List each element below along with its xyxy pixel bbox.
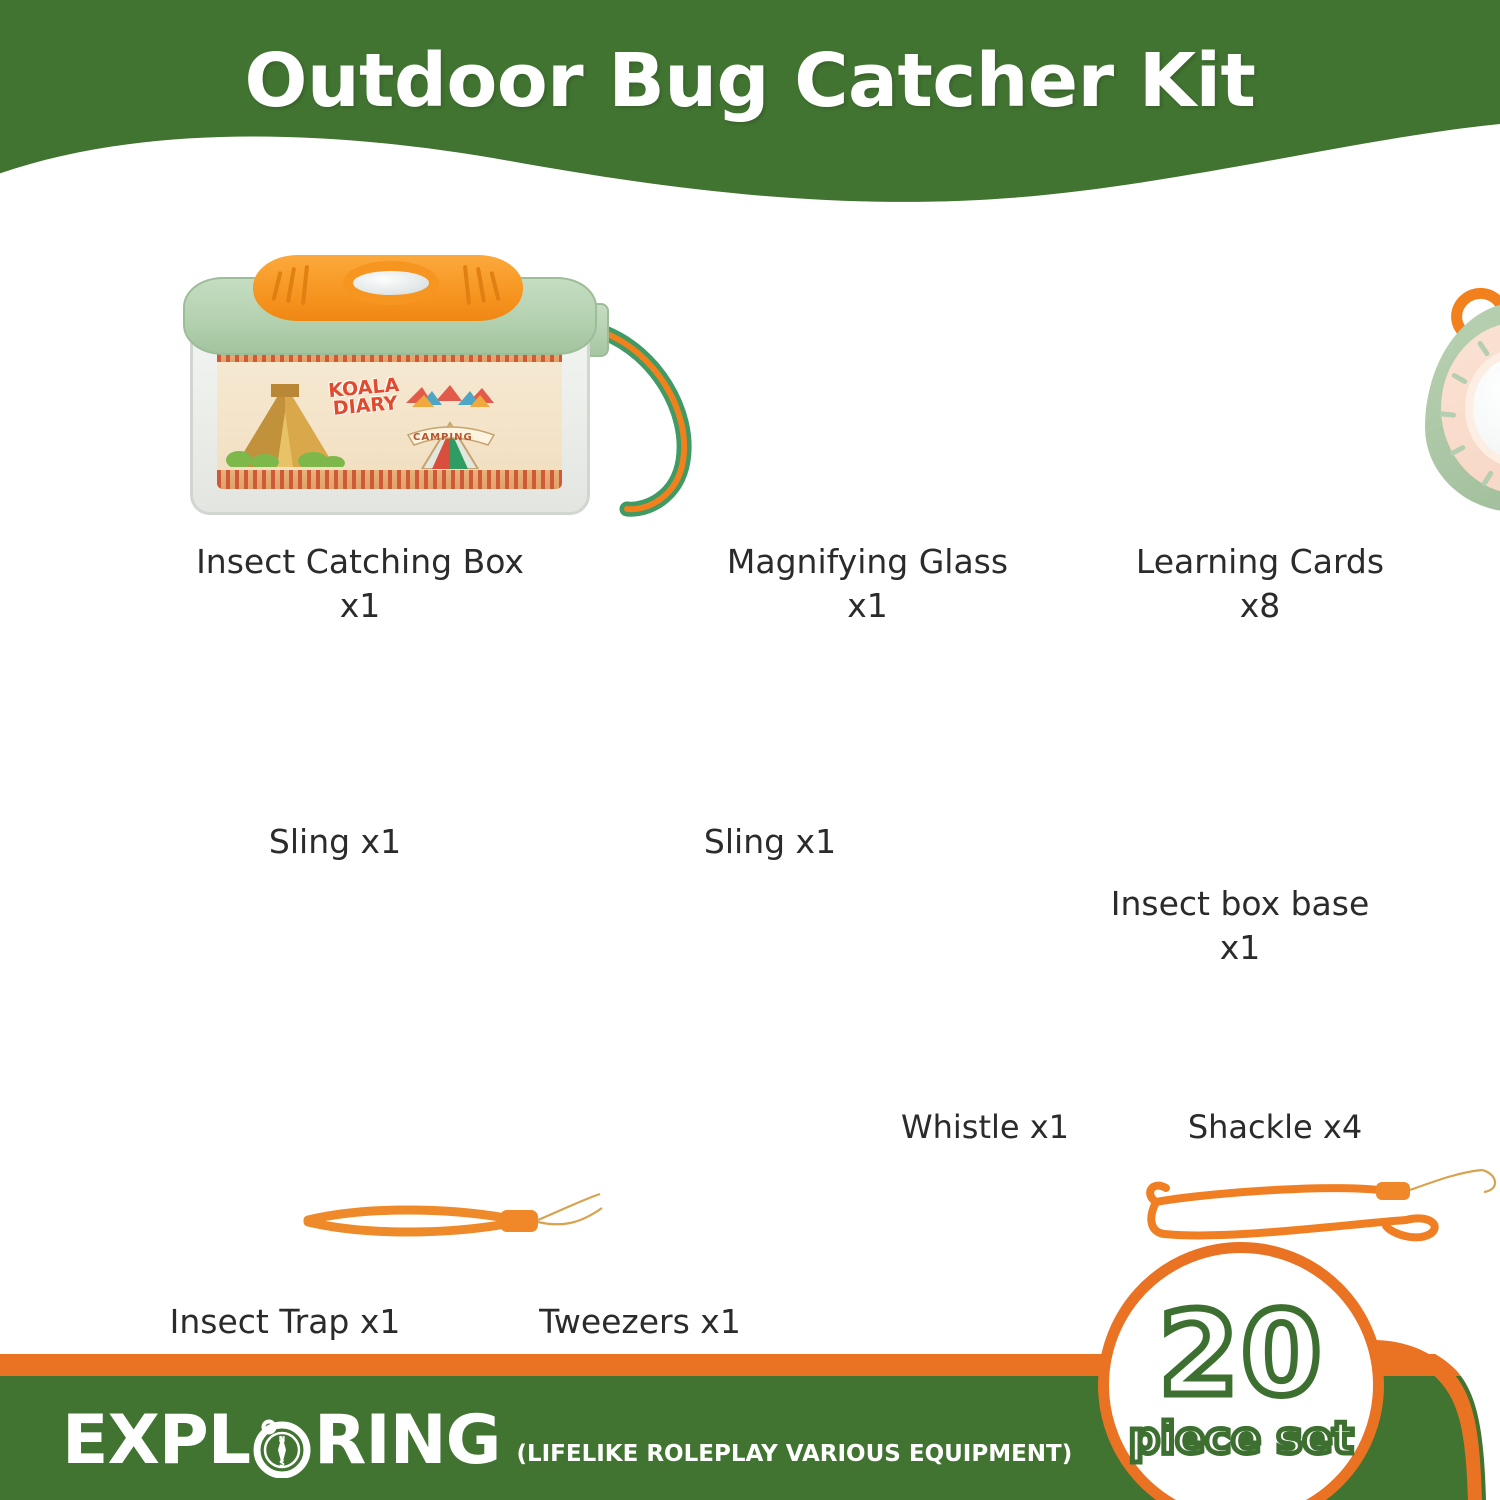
zigzag-pattern-bottom bbox=[217, 470, 562, 489]
product-infographic: Outdoor Bug Catcher Kit bbox=[0, 0, 1500, 1500]
caption-shackle: Shackle x4 bbox=[1130, 1106, 1420, 1148]
product-whistle[interactable]: N S E W Whistle x1 bbox=[840, 980, 1130, 1192]
product-sling-long[interactable]: Sling x1 bbox=[555, 670, 985, 864]
product-grid: KOALA DIARY CAMPING I bbox=[0, 200, 1500, 1330]
caption-insect-trap: Insect Trap x1 bbox=[95, 1300, 475, 1344]
caption-insect-box-base: Insect box base x1 bbox=[1020, 882, 1460, 969]
insect-trap-art bbox=[95, 900, 475, 1300]
product-tweezers[interactable]: Tweezers x1 bbox=[470, 900, 810, 1344]
box-banner-text: CAMPING bbox=[413, 432, 473, 443]
box-artwork-sticker: KOALA DIARY CAMPING bbox=[217, 343, 562, 489]
caption-learning-cards: Learning Cards x8 bbox=[1060, 540, 1460, 627]
sling-short-art bbox=[100, 680, 570, 820]
tweezers-art bbox=[470, 900, 810, 1300]
box-brand-text: KOALA DIARY bbox=[328, 376, 402, 418]
brand-text-part1: EXPL bbox=[62, 1409, 250, 1474]
caption-tweezers: Tweezers x1 bbox=[470, 1300, 810, 1344]
caption-whistle: Whistle x1 bbox=[840, 1106, 1130, 1148]
caption-sling-short: Sling x1 bbox=[100, 820, 570, 864]
brand-lockup: EXPL N S RING (LIFELIKE ROLEPLAY VARIOUS… bbox=[62, 1409, 1072, 1474]
learning-cards-art: bee [biː] bbox=[1060, 210, 1460, 540]
insect-box-base-art bbox=[1020, 620, 1460, 882]
header-wave-divider bbox=[0, 99, 1500, 215]
brand-tagline: (LIFELIKE ROLEPLAY VARIOUS EQUIPMENT) bbox=[516, 1441, 1072, 1467]
badge-number: 20 bbox=[1158, 1300, 1323, 1410]
product-learning-cards[interactable]: bee [biː] Learning Cards x8 bbox=[1060, 210, 1460, 627]
brand-text-part2: RING bbox=[314, 1409, 500, 1474]
lid-viewing-window bbox=[343, 261, 439, 305]
product-insect-box-base[interactable]: Insect box base x1 bbox=[1020, 620, 1460, 969]
compass-icon: N S bbox=[252, 1418, 312, 1478]
compass-north-letter: N bbox=[279, 1435, 286, 1444]
caption-magnifying-glass: Magnifying Glass x1 bbox=[655, 540, 1080, 627]
tent-illustration bbox=[392, 383, 512, 469]
product-magnifying-glass[interactable]: Magnifying Glass x1 bbox=[655, 210, 1080, 627]
insect-catching-box-art: KOALA DIARY CAMPING bbox=[55, 210, 665, 540]
product-sling-short[interactable]: Sling x1 bbox=[100, 680, 570, 864]
header-banner: Outdoor Bug Catcher Kit bbox=[0, 0, 1500, 215]
product-insect-trap[interactable]: Insect Trap x1 bbox=[95, 900, 475, 1344]
sling-long-art bbox=[555, 670, 985, 820]
caption-insect-catching-box: Insect Catching Box x1 bbox=[55, 540, 665, 627]
compass-south-letter: S bbox=[279, 1459, 285, 1468]
caption-sling-long: Sling x1 bbox=[555, 820, 985, 864]
product-shackle[interactable]: Shackle x4 bbox=[1130, 980, 1420, 1192]
product-insect-catching-box[interactable]: KOALA DIARY CAMPING I bbox=[55, 210, 665, 627]
badge-label: piece set bbox=[1129, 1413, 1354, 1464]
magnifying-glass-art bbox=[655, 210, 1080, 540]
